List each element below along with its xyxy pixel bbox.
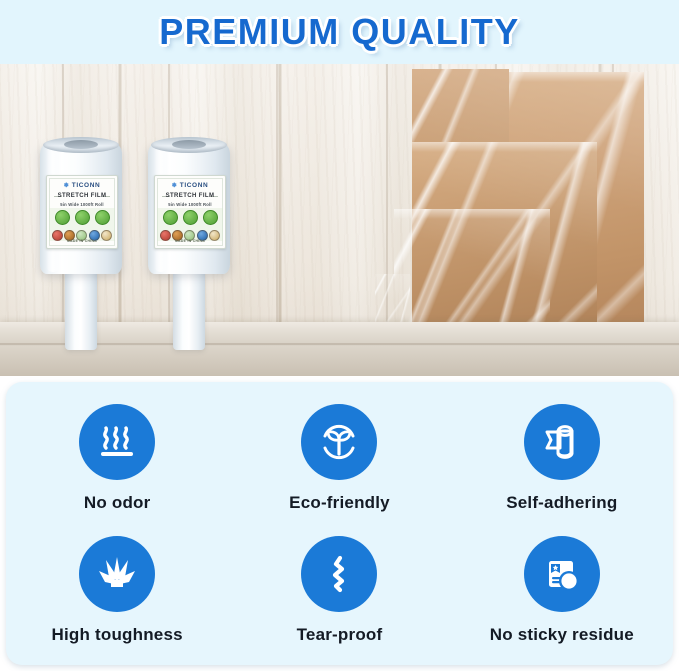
feature-icon-circle [524, 404, 600, 480]
eco-badge-icon [163, 210, 178, 225]
film-roll-icon [538, 418, 586, 466]
feature-icon-circle [524, 536, 600, 612]
stretch-film-roll-1: ✽ TICONN STRETCH FILM 5in Wide 1000ft Ro… [40, 144, 122, 354]
brand-mark-icon: ✽ [172, 183, 178, 189]
header-banner: PREMIUM QUALITY [0, 0, 679, 64]
box-top-edge [412, 142, 597, 152]
page-title: PREMIUM QUALITY [159, 11, 520, 53]
impact-burst-icon [92, 549, 142, 599]
feature-icon-circle [301, 536, 377, 612]
feature-eco-friendly: Eco-friendly [228, 392, 450, 525]
product-label: ✽ TICONN STRETCH FILM 5in Wide 1000ft Ro… [46, 175, 118, 249]
box-top-edge [394, 209, 550, 219]
feature-label: High toughness [52, 625, 183, 645]
roll-core-opening [172, 140, 206, 149]
zigzag-tear-icon [315, 550, 363, 598]
feature-high-toughness: High toughness [6, 525, 228, 658]
certification-badges-row [160, 209, 220, 226]
feature-self-adhering: Self-adhering [451, 392, 673, 525]
certification-badges-row [52, 209, 112, 226]
feature-label: Eco-friendly [289, 493, 390, 513]
brand-text: TICONN [72, 182, 101, 189]
clean-badge-icon [95, 210, 110, 225]
product-spec: 5in Wide 1000ft Roll [47, 202, 117, 207]
brand-name: ✽ TICONN [47, 182, 117, 189]
product-infographic: PREMIUM QUALITY [0, 0, 679, 671]
brand-text: TICONN [180, 182, 209, 189]
feature-label: Self-adhering [506, 493, 617, 513]
brand-name: ✽ TICONN [155, 182, 225, 189]
product-spec: 5in Wide 1000ft Roll [155, 202, 225, 207]
product-label: ✽ TICONN STRETCH FILM 5in Wide 1000ft Ro… [154, 175, 226, 249]
origin-text: MADE IN CHINA [47, 239, 117, 243]
product-name: STRETCH FILM [155, 193, 225, 199]
feature-no-sticky-residue: No sticky residue [451, 525, 673, 658]
recycle-badge-icon [183, 210, 198, 225]
features-grid: No odor Eco-friendly [6, 392, 673, 657]
product-photo: ✽ TICONN STRETCH FILM 5in Wide 1000ft Ro… [0, 64, 679, 376]
brand-mark-icon: ✽ [64, 183, 70, 189]
eco-badge-icon [55, 210, 70, 225]
feature-no-odor: No odor [6, 392, 228, 525]
feature-icon-circle [79, 404, 155, 480]
feature-label: Tear-proof [297, 625, 383, 645]
sprout-leaf-icon [315, 418, 363, 466]
feature-tear-proof: Tear-proof [228, 525, 450, 658]
feature-icon-circle [301, 404, 377, 480]
feature-label: No sticky residue [490, 625, 634, 645]
recycle-badge-icon [75, 210, 90, 225]
clean-badge-icon [203, 210, 218, 225]
feature-icon-circle [79, 536, 155, 612]
certificate-badge-icon [538, 550, 586, 598]
product-name: STRETCH FILM [47, 193, 117, 199]
steam-waves-icon [93, 418, 141, 466]
roll-core-tube [173, 272, 205, 350]
roll-core-tube [65, 272, 97, 350]
stretch-film-roll-2: ✽ TICONN STRETCH FILM 5in Wide 1000ft Ro… [148, 144, 230, 354]
origin-text: MADE IN CHINA [155, 239, 225, 243]
feature-label: No odor [84, 493, 151, 513]
features-panel: No odor Eco-friendly [6, 382, 673, 665]
roll-core-opening [64, 140, 98, 149]
